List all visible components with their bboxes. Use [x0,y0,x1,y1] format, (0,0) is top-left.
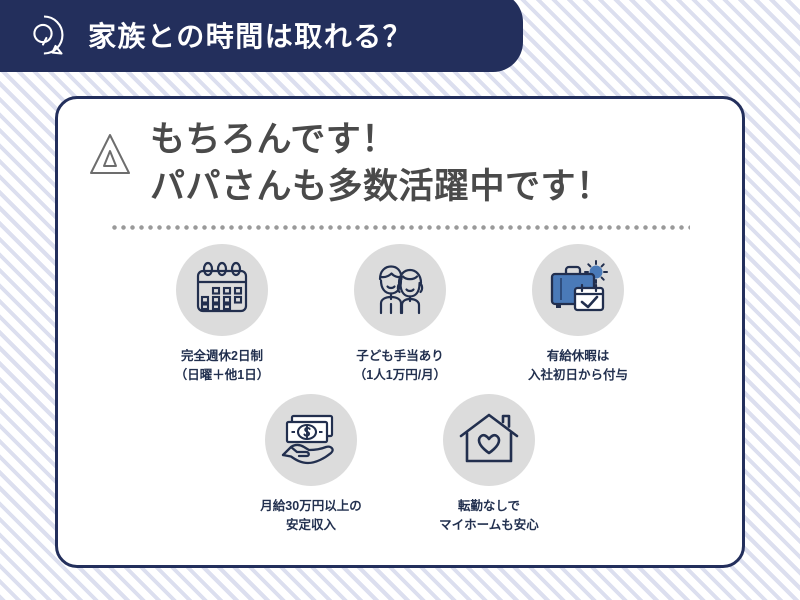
feature-label-no-relocation: 転勤なしで マイホームも安心 [439,497,539,535]
feature-label-line1: 月給30万円以上の [260,497,361,516]
feature-label-line2: （日曜＋他1日） [175,366,269,385]
feature-label-line2: （1人1万円/月） [354,366,446,385]
feature-item-no-relocation: 転勤なしで マイホームも安心 [400,394,578,535]
feature-item-monthly-salary: 月給30万円以上の 安定収入 [222,394,400,535]
two-children-icon [354,244,446,336]
feature-item-child-allowance: 子ども手当あり （1人1万円/月） [311,244,489,385]
slide-canvas: 家族との時間は取れる？ もちろんです！ パパさんも多数活躍中です！ [0,0,800,600]
answer-line-2: パパさんも多数活躍中です！ [150,164,612,211]
answer-text-lines: もちろんです！ パパさんも多数活躍中です！ [150,117,612,211]
feature-label-line2: 入社初日から付与 [528,366,628,385]
feature-label-monthly-salary: 月給30万円以上の 安定収入 [260,497,361,535]
feature-label-paid-leave: 有給休暇は 入社初日から付与 [528,347,628,385]
feature-row-bottom: 月給30万円以上の 安定収入 転勤なしで [58,394,742,535]
feature-label-child-allowance: 子ども手当あり （1人1万円/月） [354,347,446,385]
answer-card: もちろんです！ パパさんも多数活躍中です！ [55,96,745,568]
feature-item-paid-leave: 有給休暇は 入社初日から付与 [489,244,667,385]
feature-row-top: 完全週休2日制 （日曜＋他1日） [58,244,742,385]
feature-label-line1: 転勤なしで [439,497,539,516]
hand-holding-money-icon [265,394,357,486]
dotted-divider [110,225,690,230]
suitcase-sun-vacation-icon [532,244,624,336]
feature-label-line2: マイホームも安心 [439,516,539,535]
house-heart-icon [443,394,535,486]
answer-line-1: もちろんです！ [150,117,612,164]
calendar-icon [176,244,268,336]
feature-label-line1: 完全週休2日制 [175,347,269,366]
feature-label-line1: 有給休暇は [528,347,628,366]
feature-label-line2: 安定収入 [260,516,361,535]
header-question-title: 家族との時間は取れる？ [88,15,412,55]
feature-item-weekly-holiday: 完全週休2日制 （日曜＋他1日） [133,244,311,385]
answer-triangle-a-icon [88,131,132,177]
question-speech-bubble-icon [22,13,66,57]
question-header-bar: 家族との時間は取れる？ [0,0,523,72]
feature-label-weekly-holiday: 完全週休2日制 （日曜＋他1日） [175,347,269,385]
answer-heading-block: もちろんです！ パパさんも多数活躍中です！ [58,99,742,211]
feature-label-line1: 子ども手当あり [354,347,446,366]
